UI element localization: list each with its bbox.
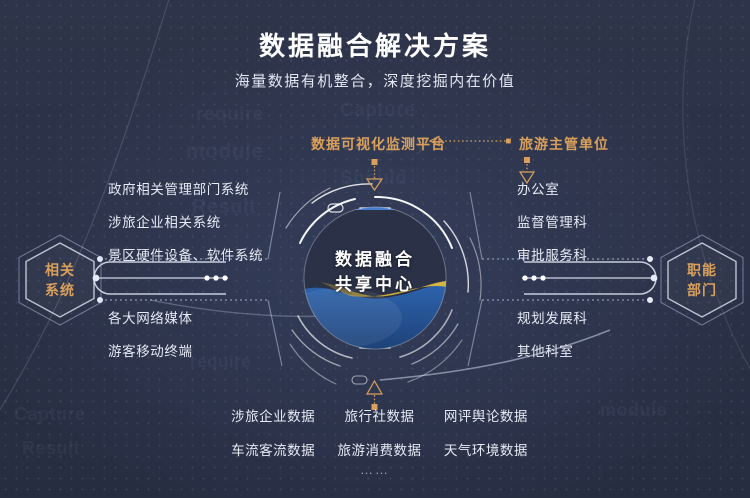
list-item[interactable]: 审批服务科 [517,244,588,264]
label-visualization-platform[interactable]: 数据可视化监测平台 [311,134,446,154]
list-right-bottom-departments: 规划发展科 其他科室 [517,307,588,373]
list-item[interactable]: 旅行社数据 [328,405,430,425]
bottom-ellipsis: …… [0,462,750,477]
background-word: module [600,400,667,421]
list-left-bottom-systems: 各大网络媒体 游客移动终端 [108,307,193,373]
center-core-label: 数据融合 共享中心 [300,248,450,297]
hexagon-right-line-2: 部门 [687,280,717,300]
grid-bottom-data-types: 涉旅企业数据 旅行社数据 网评舆论数据 车流客流数据 旅游消费数据 天气环境数据 [222,405,537,459]
page-title: 数据融合解决方案 [0,26,750,63]
list-item[interactable]: 政府相关管理部门系统 [108,178,263,198]
list-item[interactable]: 其他科室 [517,340,588,360]
list-item[interactable]: 天气环境数据 [435,439,537,459]
background-word: require [190,352,251,372]
list-item[interactable]: 监督管理科 [517,211,588,231]
background-word: Capture [14,404,86,425]
hexagon-left-line-2: 系统 [45,280,75,300]
background-word: module [186,140,264,164]
background-word: require [196,104,264,126]
hexagon-right-line-1: 职能 [687,260,717,280]
list-left-top-systems: 政府相关管理部门系统 涉旅企业相关系统 景区硬件设备、软件系统 [108,178,263,277]
hexagon-left-line-1: 相关 [45,260,75,280]
list-item[interactable]: 网评舆论数据 [435,405,537,425]
list-item[interactable]: 旅游消费数据 [328,439,430,459]
list-item[interactable]: 景区硬件设备、软件系统 [108,244,263,264]
center-line-1: 数据融合 [300,248,450,273]
background-word: Result [22,438,80,459]
page-subtitle: 海量数据有机整合，深度挖掘内在价值 [0,70,750,91]
hexagon-right-text: 职能 部门 [654,232,750,328]
list-item[interactable]: 涉旅企业相关系统 [108,211,263,231]
hexagon-functional-departments[interactable]: 职能 部门 [654,232,750,328]
hexagon-left-text: 相关 系统 [12,232,108,328]
list-item[interactable]: 各大网络媒体 [108,307,193,327]
background-word: Capture [340,100,415,122]
list-item[interactable]: 游客移动终端 [108,340,193,360]
left-arrow-dotted-connector-icon [428,133,514,149]
center-line-2: 共享中心 [300,273,450,298]
background-word: Should [340,168,407,190]
hexagon-related-systems[interactable]: 相关 系统 [12,232,108,328]
down-arrow-marker-icon [367,159,382,190]
list-right-top-departments: 办公室 监督管理科 审批服务科 [517,178,588,277]
list-item[interactable]: 涉旅企业数据 [222,405,324,425]
list-item[interactable]: 规划发展科 [517,307,588,327]
list-item[interactable]: 办公室 [517,178,588,198]
label-tourism-authority[interactable]: 旅游主管单位 [519,134,609,154]
list-item[interactable]: 车流客流数据 [222,439,324,459]
infographic-canvas: require module Result require Capture Ca… [0,0,750,498]
